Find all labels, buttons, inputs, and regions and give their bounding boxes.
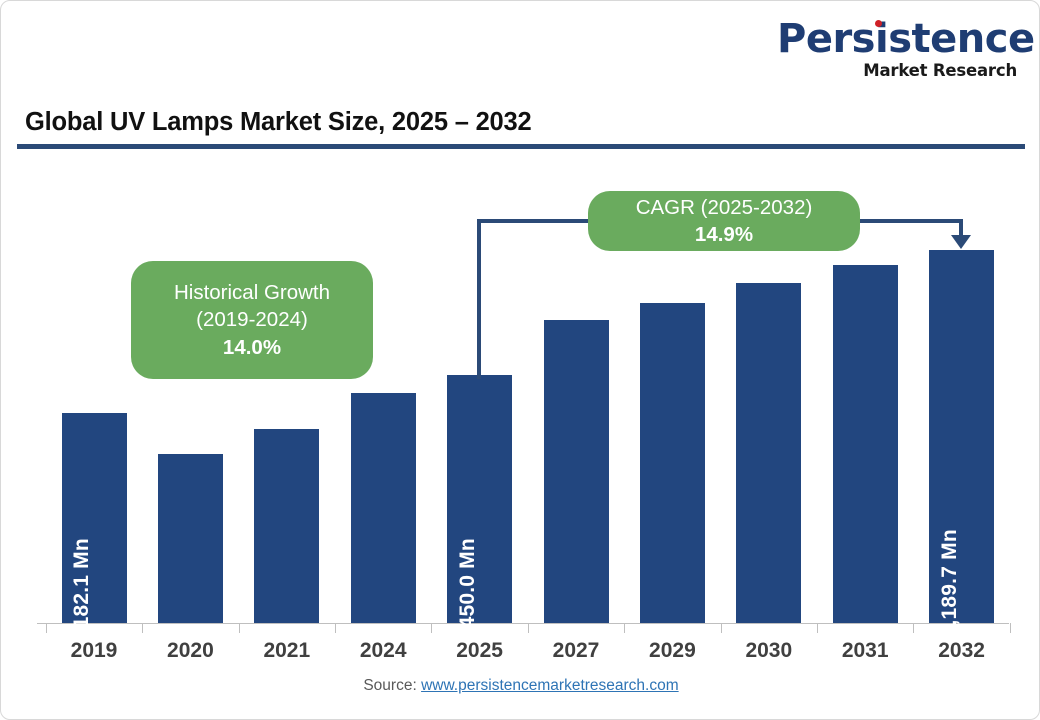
bar-2030	[736, 283, 801, 623]
x-axis-label-2032: 2032	[938, 639, 985, 663]
historical-growth-value: 14.0%	[223, 334, 281, 361]
axis-tick	[1010, 623, 1011, 633]
bar-2027	[544, 320, 609, 623]
bar-2024	[351, 393, 416, 623]
x-axis-label-2031: 2031	[842, 639, 889, 663]
x-axis-label-2024: 2024	[360, 639, 407, 663]
cagr-callout: CAGR (2025-2032) 14.9%	[588, 191, 860, 251]
cagr-connector-horizontal-left	[477, 219, 592, 223]
axis-tick	[335, 623, 336, 633]
bar-2025: US$ 450.0 Mn	[447, 375, 512, 623]
x-axis-label-2027: 2027	[553, 639, 600, 663]
source-line: Source: www.persistencemarketresearch.co…	[1, 677, 1040, 695]
x-axis-label-2021: 2021	[263, 639, 310, 663]
axis-tick	[624, 623, 625, 633]
bar-2019: US$ 182.1 Mn	[62, 413, 127, 623]
bar-2020	[158, 454, 223, 623]
x-axis-line	[37, 623, 1009, 624]
axis-tick	[142, 623, 143, 633]
x-axis-label-2029: 2029	[649, 639, 696, 663]
chart-infographic: Persistence Market Research Global UV La…	[0, 0, 1040, 720]
bar-2021	[254, 429, 319, 623]
bar-2031	[833, 265, 898, 623]
historical-growth-period: (2019-2024)	[196, 306, 308, 333]
axis-tick	[46, 623, 47, 633]
x-axis-label-2020: 2020	[167, 639, 214, 663]
cagr-arrow-icon	[951, 235, 971, 249]
bar-2029	[640, 303, 705, 623]
source-link[interactable]: www.persistencemarketresearch.com	[421, 677, 679, 694]
axis-tick	[528, 623, 529, 633]
source-prefix: Source:	[363, 677, 421, 694]
axis-tick	[721, 623, 722, 633]
axis-tick	[817, 623, 818, 633]
bar-2032: US$ 1,189.7 Mn	[929, 250, 994, 623]
cagr-title: CAGR (2025-2032)	[636, 194, 813, 221]
axis-tick	[913, 623, 914, 633]
historical-growth-callout: Historical Growth (2019-2024) 14.0%	[131, 261, 373, 379]
historical-growth-title: Historical Growth	[174, 279, 330, 306]
cagr-connector-vertical-left	[477, 219, 481, 379]
x-axis-label-2019: 2019	[71, 639, 118, 663]
x-axis-label-2030: 2030	[745, 639, 792, 663]
axis-tick	[431, 623, 432, 633]
cagr-connector-horizontal-right	[856, 219, 963, 223]
bar-chart: US$ 182.1 MnUS$ 450.0 MnUS$ 1,189.7 Mn 2…	[1, 1, 1040, 720]
x-axis-label-2025: 2025	[456, 639, 503, 663]
axis-tick	[239, 623, 240, 633]
cagr-value: 14.9%	[695, 221, 753, 248]
